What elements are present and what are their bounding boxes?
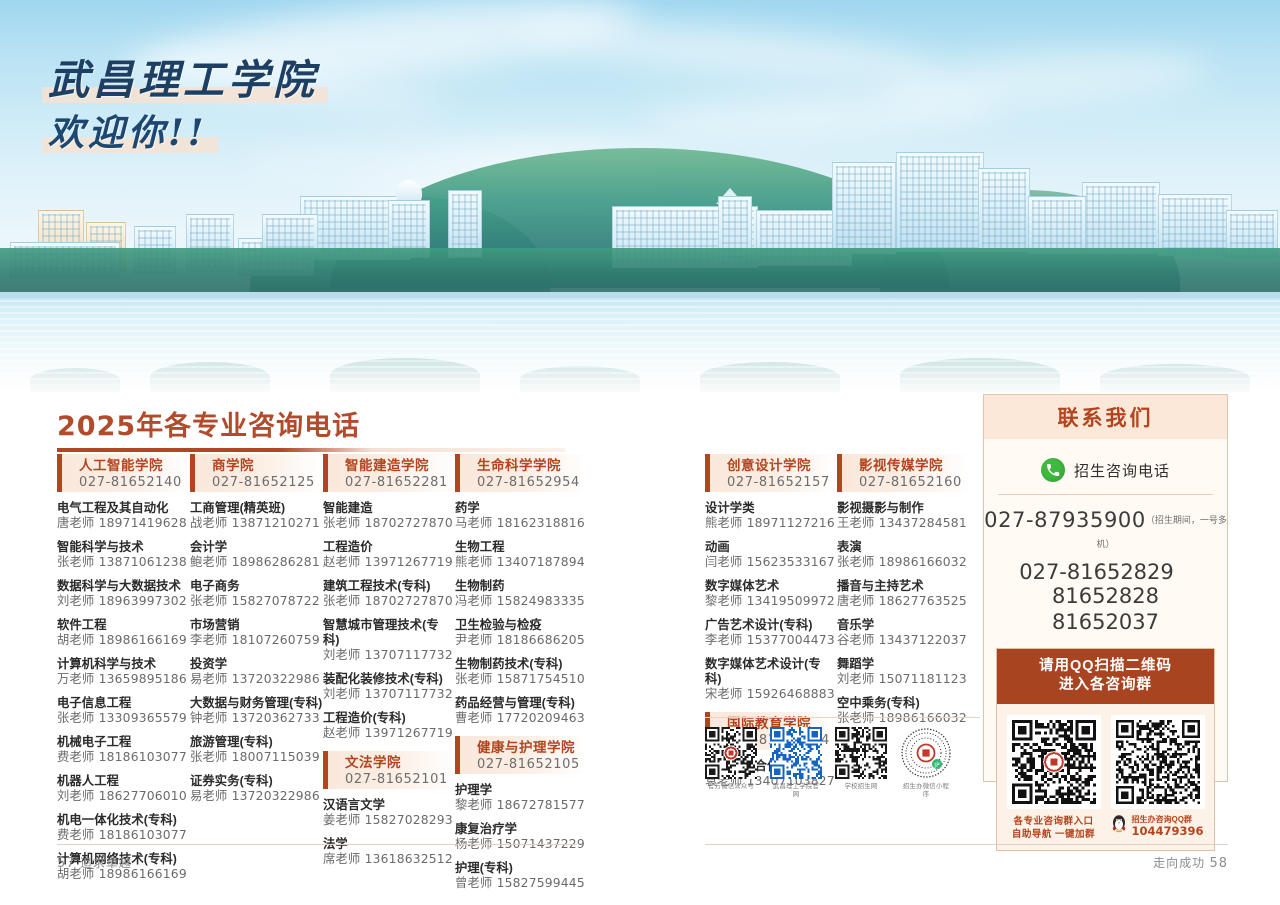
major-contact: 黎老师 18672781577: [455, 798, 587, 813]
phone-label: 招生咨询电话: [1074, 460, 1170, 481]
major-contact: 李老师 18107260759: [190, 633, 323, 648]
qq-head-line2: 进入各咨询群: [997, 676, 1214, 695]
major-entry: 装配化装修技术(专科)刘老师 13707117732: [323, 672, 455, 702]
major-contact: 刘老师 18963997302: [57, 594, 190, 609]
left-page: 人工智能学院027-81652140电气工程及其自动化唐老师 189714196…: [57, 454, 587, 901]
major-contact: 唐老师 18971419628: [57, 516, 190, 531]
department-block: 健康与护理学院027-81652105护理学黎老师 18672781577康复治…: [455, 736, 587, 891]
department-name: 智能建造学院: [339, 457, 455, 474]
department-name: 人工智能学院: [73, 457, 190, 474]
major-name: 工程造价(专科): [323, 711, 455, 726]
department-phone: 027-81652101: [339, 771, 455, 788]
phone-icon: [1041, 458, 1065, 482]
major-name: 计算机科学与技术: [57, 657, 190, 672]
qr-code-label: 官方微信公众号: [705, 783, 757, 791]
department-header: 人工智能学院027-81652140: [57, 454, 190, 492]
major-contact: 李老师 15377004473: [705, 633, 837, 648]
major-entry: 电气工程及其自动化唐老师 18971419628: [57, 501, 190, 531]
major-name: 音乐学: [837, 618, 969, 633]
major-contact: 张老师 15871754510: [455, 672, 587, 687]
major-name: 卫生检验与检疫: [455, 618, 587, 633]
major-contact: 赵老师 13971267719: [323, 726, 455, 741]
major-entry: 卫生检验与检疫尹老师 18186686205: [455, 618, 587, 648]
department-name: 商学院: [206, 457, 323, 474]
major-contact: 张老师 18007115039: [190, 750, 323, 765]
major-entry: 生物制药技术(专科)张老师 15871754510: [455, 657, 587, 687]
major-name: 机电一体化技术(专科): [57, 813, 190, 828]
major-name: 智慧城市管理技术(专科): [323, 618, 455, 648]
cloud-shape: [519, 10, 941, 92]
hero-title-line1: 武昌理工学院: [48, 60, 318, 101]
major-name: 生物工程: [455, 540, 587, 555]
major-contact: 费老师 18186103077: [57, 750, 190, 765]
major-contact: 费老师 18186103077: [57, 828, 190, 843]
major-entry: 播音与主持艺术唐老师 18627763525: [837, 579, 969, 609]
title-underline: [57, 448, 565, 452]
column-3: 智能建造学院027-81652281智能建造张老师 18702727870工程造…: [323, 454, 455, 901]
major-entry: 市场营销李老师 18107260759: [190, 618, 323, 648]
major-name: 康复治疗学: [455, 822, 587, 837]
major-contact: 曹老师 17720209463: [455, 711, 587, 726]
content-area: 2025年各专业咨询电话 人工智能学院027-81652140电气工程及其自动化…: [0, 392, 1280, 905]
major-name: 会计学: [190, 540, 323, 555]
department-block: 生命科学学院027-81652954药学马老师 18162318816生物工程熊…: [455, 454, 587, 726]
major-entry: 法学席老师 13618632512: [323, 837, 455, 867]
hero-title-line2-text: 欢迎你!!: [48, 112, 208, 154]
hero-title-line2: 欢迎你!!: [48, 115, 208, 151]
major-entry: 生物制药冯老师 15824983335: [455, 579, 587, 609]
contact-card-header: 联系我们: [984, 395, 1227, 439]
qq-right-caption-text: 招生办咨询QQ群 104479396: [1131, 815, 1203, 838]
major-contact: 熊老师 13407187894: [455, 555, 587, 570]
major-contact: 刘老师 13707117732: [323, 648, 455, 663]
major-contact: 谷老师 13437122037: [837, 633, 969, 648]
major-contact: 钟老师 13720362733: [190, 711, 323, 726]
department-header: 健康与护理学院027-81652105: [455, 736, 587, 774]
major-entry: 工程造价(专科)赵老师 13971267719: [323, 711, 455, 741]
major-name: 生物制药: [455, 579, 587, 594]
major-contact: 席老师 13618632512: [323, 852, 455, 867]
major-name: 舞蹈学: [837, 657, 969, 672]
qq-right-caption: 招生办咨询QQ群 104479396: [1111, 814, 1205, 838]
column-4: 生命科学学院027-81652954药学马老师 18162318816生物工程熊…: [455, 454, 587, 901]
qr-code-image[interactable]: JP: [900, 727, 952, 779]
qr-code-image[interactable]: [835, 727, 887, 779]
tel-fourth: 81652037: [1052, 610, 1159, 634]
major-entry: 药品经营与管理(专科)曹老师 17720209463: [455, 696, 587, 726]
contact-heading: 联系我们: [1058, 402, 1154, 432]
major-entry: 投资学易老师 13720322986: [190, 657, 323, 687]
major-entry: 广告艺术设计(专科)李老师 15377004473: [705, 618, 837, 648]
qq-box-header: 请用QQ扫描二维码 进入各咨询群: [997, 649, 1214, 704]
department-phone: 027-81652954: [471, 474, 587, 491]
major-contact: 黎老师 13419509972: [705, 594, 837, 609]
major-entry: 动画闫老师 15623533167: [705, 540, 837, 570]
major-name: 空中乘务(专科): [837, 696, 969, 711]
major-name: 电气工程及其自动化: [57, 501, 190, 516]
qr-code-4[interactable]: JP招生办微信小程序: [900, 727, 952, 799]
major-contact: 宋老师 15926468883: [705, 687, 837, 702]
department-name: 创意设计学院: [721, 457, 837, 474]
accent-bar: [323, 751, 328, 789]
department-name: 生命科学学院: [471, 457, 587, 474]
major-entry: 音乐学谷老师 13437122037: [837, 618, 969, 648]
major-entry: 证券实务(专科)易老师 13720322986: [190, 774, 323, 804]
footer-divider-left: [57, 844, 577, 845]
major-entry: 智慧城市管理技术(专科)刘老师 13707117732: [323, 618, 455, 663]
major-name: 智能科学与技术: [57, 540, 190, 555]
major-name: 数据科学与大数据技术: [57, 579, 190, 594]
building: [978, 168, 1030, 252]
qq-left-caption-line1: 各专业咨询群入口: [1007, 815, 1101, 828]
penguin-icon: [1111, 814, 1127, 838]
department-phone: 027-81652160: [853, 474, 969, 491]
right-column-2: 影视传媒学院027-81652160影视摄影与制作王老师 13437284581…: [837, 454, 969, 905]
major-contact: 刘老师 18627706010: [57, 789, 190, 804]
major-entry: 机械电子工程费老师 18186103077: [57, 735, 190, 765]
building: [1082, 182, 1160, 254]
qr-code-image[interactable]: [705, 727, 757, 779]
qr-code-image[interactable]: [1007, 715, 1101, 809]
building: [1158, 194, 1232, 256]
major-entry: 电子信息工程张老师 13309365579: [57, 696, 190, 726]
major-name: 播音与主持艺术: [837, 579, 969, 594]
cloud-shape: [879, 43, 1212, 118]
major-contact: 熊老师 18971127216: [705, 516, 837, 531]
major-entry: 舞蹈学刘老师 15071181123: [837, 657, 969, 687]
major-entry: 智能科学与技术张老师 13871061238: [57, 540, 190, 570]
right-page: 创意设计学院027-81652157设计学类熊老师 18971127216动画闫…: [705, 454, 980, 905]
page-title: 2025年各专业咨询电话: [57, 404, 577, 443]
left-footer-text: 追求卓越: [80, 856, 132, 870]
qr-code-image[interactable]: [770, 727, 822, 779]
major-entry: 建筑工程技术(专科)张老师 18702727870: [323, 579, 455, 609]
major-contact: 张老师 18986166032: [837, 555, 969, 570]
major-name: 机械电子工程: [57, 735, 190, 750]
hero-title: 武昌理工学院 欢迎你!!: [48, 60, 318, 165]
qr-code-strip: 官方微信公众号武昌理工学院官网学校招生网JP招生办微信小程序: [705, 717, 980, 799]
major-name: 大数据与财务管理(专科): [190, 696, 323, 711]
qq-item-majors[interactable]: 各专业咨询群入口 自助导航 一键加群: [1007, 715, 1101, 841]
accent-bar: [837, 454, 842, 492]
major-entry: 大数据与财务管理(专科)钟老师 13720362733: [190, 696, 323, 726]
qr-code-3[interactable]: 学校招生网: [835, 727, 887, 799]
major-contact: 易老师 13720322986: [190, 789, 323, 804]
major-name: 数字媒体艺术设计(专科): [705, 657, 837, 687]
right-columns-grid: 创意设计学院027-81652157设计学类熊老师 18971127216动画闫…: [705, 454, 980, 905]
major-entry: 电子商务张老师 15827078722: [190, 579, 323, 609]
left-page-number: 57: [57, 856, 76, 871]
major-contact: 赵老师 13971267719: [323, 555, 455, 570]
qq-group-number: 104479396: [1131, 825, 1203, 838]
footer-left: 57 追求卓越: [57, 854, 132, 871]
major-name: 生物制药技术(专科): [455, 657, 587, 672]
accent-bar: [57, 454, 62, 492]
accent-bar: [455, 736, 460, 774]
qq-head-line1: 请用QQ扫描二维码: [997, 657, 1214, 676]
major-name: 影视摄影与制作: [837, 501, 969, 516]
footer-divider-right: [705, 844, 1228, 845]
major-entry: 设计学类熊老师 18971127216: [705, 501, 837, 531]
major-contact: 战老师 13871210271: [190, 516, 323, 531]
qq-box-body: 各专业咨询群入口 自助导航 一键加群: [997, 704, 1214, 850]
major-entry: 会计学鲍老师 18986286281: [190, 540, 323, 570]
admissions-phone-row: 招生咨询电话: [984, 458, 1227, 482]
tel-second-row: 027-8165282981652828: [984, 560, 1227, 608]
department-phone: 027-81652140: [73, 474, 190, 491]
major-contact: 易老师 13720322986: [190, 672, 323, 687]
tel-fourth-row: 81652037: [984, 610, 1227, 634]
major-contact: 鲍老师 18986286281: [190, 555, 323, 570]
major-entry: 数据科学与大数据技术刘老师 18963997302: [57, 579, 190, 609]
qq-left-caption: 各专业咨询群入口 自助导航 一键加群: [1007, 815, 1101, 841]
major-name: 汉语言文学: [323, 798, 455, 813]
major-contact: 胡老师 18986166169: [57, 633, 190, 648]
major-name: 投资学: [190, 657, 323, 672]
major-contact: 张老师 15827078722: [190, 594, 323, 609]
department-header: 影视传媒学院027-81652160: [837, 454, 969, 492]
major-entry: 药学马老师 18162318816: [455, 501, 587, 531]
department-block: 影视传媒学院027-81652160影视摄影与制作王老师 13437284581…: [837, 454, 969, 726]
major-entry: 计算机科学与技术万老师 13659895186: [57, 657, 190, 687]
department-block: 人工智能学院027-81652140电气工程及其自动化唐老师 189714196…: [57, 454, 190, 882]
major-contact: 张老师 13309365579: [57, 711, 190, 726]
divider: [998, 494, 1213, 495]
major-entry: 生物工程熊老师 13407187894: [455, 540, 587, 570]
qr-code-label: 武昌理工学院官网: [770, 783, 822, 799]
accent-bar: [323, 454, 328, 492]
major-entry: 旅游管理(专科)张老师 18007115039: [190, 735, 323, 765]
department-header: 文法学院027-81652101: [323, 751, 455, 789]
right-footer-text: 走向成功: [1153, 856, 1205, 870]
major-contact: 姜老师 15827028293: [323, 813, 455, 828]
tree-line: [0, 248, 1280, 298]
qr-code-label: 招生办微信小程序: [900, 783, 952, 799]
qr-code-image[interactable]: [1111, 715, 1205, 809]
qq-left-caption-line2: 自助导航 一键加群: [1007, 828, 1101, 841]
section-title-wrap: 2025年各专业咨询电话: [57, 404, 577, 452]
department-phone: 027-81652157: [721, 474, 837, 491]
qr-code-1[interactable]: 官方微信公众号: [705, 727, 757, 799]
department-block: 智能建造学院027-81652281智能建造张老师 18702727870工程造…: [323, 454, 455, 741]
department-name: 影视传媒学院: [853, 457, 969, 474]
tel-third: 81652828: [1052, 584, 1159, 608]
department-name: 健康与护理学院: [471, 739, 587, 756]
department-name: 文法学院: [339, 754, 455, 771]
major-entry: 软件工程胡老师 18986166169: [57, 618, 190, 648]
major-contact: 万老师 13659895186: [57, 672, 190, 687]
major-contact: 闫老师 15623533167: [705, 555, 837, 570]
major-entry: 表演张老师 18986166032: [837, 540, 969, 570]
major-name: 表演: [837, 540, 969, 555]
column-1: 人工智能学院027-81652140电气工程及其自动化唐老师 189714196…: [57, 454, 190, 901]
major-entry: 工商管理(精英班)战老师 13871210271: [190, 501, 323, 531]
major-contact: 尹老师 18186686205: [455, 633, 587, 648]
hero-title-line1-text: 武昌理工学院: [48, 56, 318, 104]
major-name: 药品经营与管理(专科): [455, 696, 587, 711]
major-entry: 康复治疗学杨老师 15071437229: [455, 822, 587, 852]
department-phone: 027-81652125: [206, 474, 323, 491]
major-name: 工商管理(精英班): [190, 501, 323, 516]
major-name: 电子信息工程: [57, 696, 190, 711]
water-sheen: [0, 300, 1280, 386]
major-entry: 护理学黎老师 18672781577: [455, 783, 587, 813]
major-name: 工程造价: [323, 540, 455, 555]
major-name: 装配化装修技术(专科): [323, 672, 455, 687]
footer-right: 走向成功 58: [1153, 854, 1228, 871]
major-name: 建筑工程技术(专科): [323, 579, 455, 594]
major-contact: 马老师 18162318816: [455, 516, 587, 531]
major-name: 智能建造: [323, 501, 455, 516]
major-contact: 曾老师 15827599445: [455, 876, 587, 891]
major-name: 护理学: [455, 783, 587, 798]
qq-right-caption-line1: 招生办咨询QQ群: [1131, 815, 1203, 825]
qq-item-office[interactable]: 招生办咨询QQ群 104479396: [1111, 715, 1205, 841]
major-name: 软件工程: [57, 618, 190, 633]
tel-main-row: 027-87935900（招生期间，一号多机）: [984, 508, 1227, 556]
major-name: 机器人工程: [57, 774, 190, 789]
qq-group-box: 请用QQ扫描二维码 进入各咨询群 各专业咨询群入口 自助导航 一键加群: [996, 648, 1215, 851]
major-contact: 张老师 18702727870: [323, 594, 455, 609]
major-entry: 护理(专科)曾老师 15827599445: [455, 861, 587, 891]
major-name: 数字媒体艺术: [705, 579, 837, 594]
department-header: 商学院027-81652125: [190, 454, 323, 492]
major-name: 证券实务(专科): [190, 774, 323, 789]
major-entry: 智能建造张老师 18702727870: [323, 501, 455, 531]
major-entry: 机器人工程刘老师 18627706010: [57, 774, 190, 804]
major-contact: 唐老师 18627763525: [837, 594, 969, 609]
major-contact: 刘老师 15071181123: [837, 672, 969, 687]
major-contact: 王老师 13437284581: [837, 516, 969, 531]
major-name: 药学: [455, 501, 587, 516]
building: [896, 152, 984, 252]
major-name: 旅游管理(专科): [190, 735, 323, 750]
column-2: 商学院027-81652125工商管理(精英班)战老师 13871210271会…: [190, 454, 323, 901]
major-entry: 数字媒体艺术设计(专科)宋老师 15926468883: [705, 657, 837, 702]
accent-bar: [190, 454, 195, 492]
department-header: 智能建造学院027-81652281: [323, 454, 455, 492]
right-page-number: 58: [1209, 856, 1228, 871]
department-phone: 027-81652281: [339, 474, 455, 491]
major-name: 电子商务: [190, 579, 323, 594]
accent-bar: [705, 454, 710, 492]
qr-code-label: 学校招生网: [835, 783, 887, 791]
building: [1028, 196, 1086, 254]
building: [832, 162, 896, 254]
major-entry: 汉语言文学姜老师 15827028293: [323, 798, 455, 828]
department-block: 商学院027-81652125工商管理(精英班)战老师 13871210271会…: [190, 454, 323, 804]
svg-text:JP: JP: [933, 762, 940, 769]
major-entry: 数字媒体艺术黎老师 13419509972: [705, 579, 837, 609]
accent-bar: [455, 454, 460, 492]
major-entry: 影视摄影与制作王老师 13437284581: [837, 501, 969, 531]
qr-row: 官方微信公众号武昌理工学院官网学校招生网JP招生办微信小程序: [705, 727, 980, 799]
right-column-1: 创意设计学院027-81652157设计学类熊老师 18971127216动画闫…: [705, 454, 837, 905]
major-contact: 张老师 13871061238: [57, 555, 190, 570]
major-name: 护理(专科): [455, 861, 587, 876]
department-header: 创意设计学院027-81652157: [705, 454, 837, 492]
tel-second: 027-81652829: [1019, 560, 1174, 584]
major-name: 市场营销: [190, 618, 323, 633]
major-contact: 张老师 18702727870: [323, 516, 455, 531]
divider: [705, 717, 980, 718]
major-entry: 机电一体化技术(专科)费老师 18186103077: [57, 813, 190, 843]
department-block: 文法学院027-81652101汉语言文学姜老师 15827028293法学席老…: [323, 751, 455, 867]
department-header: 生命科学学院027-81652954: [455, 454, 587, 492]
major-name: 设计学类: [705, 501, 837, 516]
major-name: 广告艺术设计(专科): [705, 618, 837, 633]
qr-code-2[interactable]: 武昌理工学院官网: [770, 727, 822, 799]
major-contact: 冯老师 15824983335: [455, 594, 587, 609]
brochure-page: 武昌理工学院 欢迎你!! 2025年各专业咨询电话 人工智能学院027-8165…: [0, 0, 1280, 905]
left-columns-grid: 人工智能学院027-81652140电气工程及其自动化唐老师 189714196…: [57, 454, 587, 901]
hero-banner: 武昌理工学院 欢迎你!!: [0, 0, 1280, 392]
tel-main: 027-87935900: [984, 508, 1146, 532]
major-contact: 刘老师 13707117732: [323, 687, 455, 702]
major-entry: 工程造价赵老师 13971267719: [323, 540, 455, 570]
contact-card: 联系我们 招生咨询电话 027-87935900（招生期间，一号多机） 027-…: [983, 394, 1228, 782]
major-name: 动画: [705, 540, 837, 555]
department-block: 创意设计学院027-81652157设计学类熊老师 18971127216动画闫…: [705, 454, 837, 702]
department-phone: 027-81652105: [471, 756, 587, 773]
